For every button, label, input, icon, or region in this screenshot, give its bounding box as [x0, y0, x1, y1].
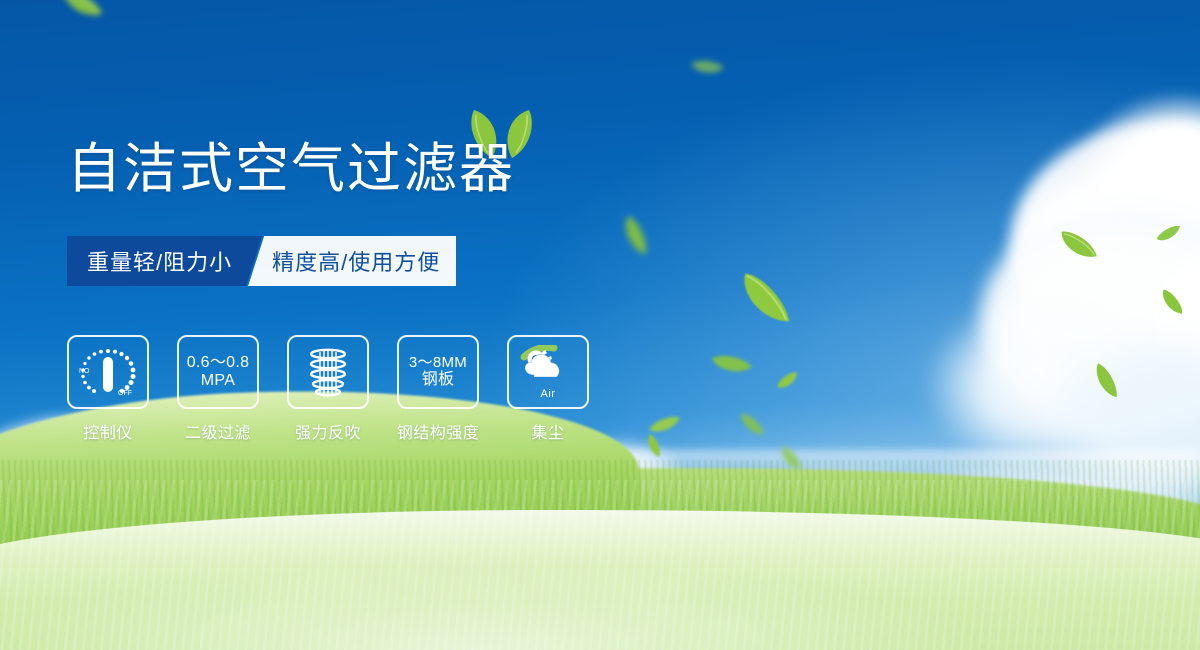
- feature-label: 控制仪: [83, 419, 133, 443]
- feature-icon-box: Air: [507, 335, 589, 409]
- feature-icon-box: 3～8MM 钢板: [397, 335, 479, 409]
- feature-item-control-gauge[interactable]: NO OFF 控制仪: [67, 335, 149, 443]
- coil-stack-icon: [301, 345, 355, 399]
- gauge-off-label: OFF: [118, 390, 132, 397]
- pressure-value-text: 0.6～0.8: [187, 354, 250, 372]
- feature-item-dust-collection[interactable]: Air 集尘: [507, 335, 589, 443]
- grass-sheen: [0, 480, 1200, 650]
- feature-label: 二级过滤: [185, 419, 251, 443]
- steel-thickness-text: 3～8MM: [409, 355, 467, 372]
- subtitle-left-badge: 重量轻/阻力小: [67, 236, 262, 286]
- feature-label: 集尘: [531, 419, 564, 443]
- product-hero-banner: 自洁式空气过滤器 重量轻/阻力小 精度高/使用方便: [0, 0, 1200, 650]
- subtitle-bar: 重量轻/阻力小 精度高/使用方便: [67, 236, 463, 286]
- page-title: 自洁式空气过滤器: [67, 142, 515, 196]
- air-caption: Air: [541, 388, 556, 400]
- feature-item-steel-strength[interactable]: 3～8MM 钢板 钢结构强度: [397, 335, 479, 443]
- feature-icon-box: NO OFF: [67, 335, 149, 409]
- subtitle-right-badge: 精度高/使用方便: [248, 236, 456, 286]
- air-cloud-icon: [518, 345, 578, 387]
- feature-icon-box: 0.6～0.8 MPA: [177, 335, 259, 409]
- steel-plate-text: 钢板: [422, 371, 455, 389]
- feature-item-strong-backblow[interactable]: 强力反吹: [287, 335, 369, 443]
- gauge-icon: NO OFF: [77, 344, 139, 400]
- feature-label: 钢结构强度: [397, 419, 480, 443]
- feature-label: 强力反吹: [295, 419, 361, 443]
- grass-field: [0, 410, 1200, 650]
- gauge-no-label: NO: [79, 368, 90, 375]
- pressure-unit-text: MPA: [201, 372, 235, 390]
- feature-icon-box: [287, 335, 369, 409]
- feature-list: NO OFF 控制仪 0.6～0.8 MPA 二级过滤: [67, 335, 589, 443]
- feature-item-two-stage-filter[interactable]: 0.6～0.8 MPA 二级过滤: [177, 335, 259, 443]
